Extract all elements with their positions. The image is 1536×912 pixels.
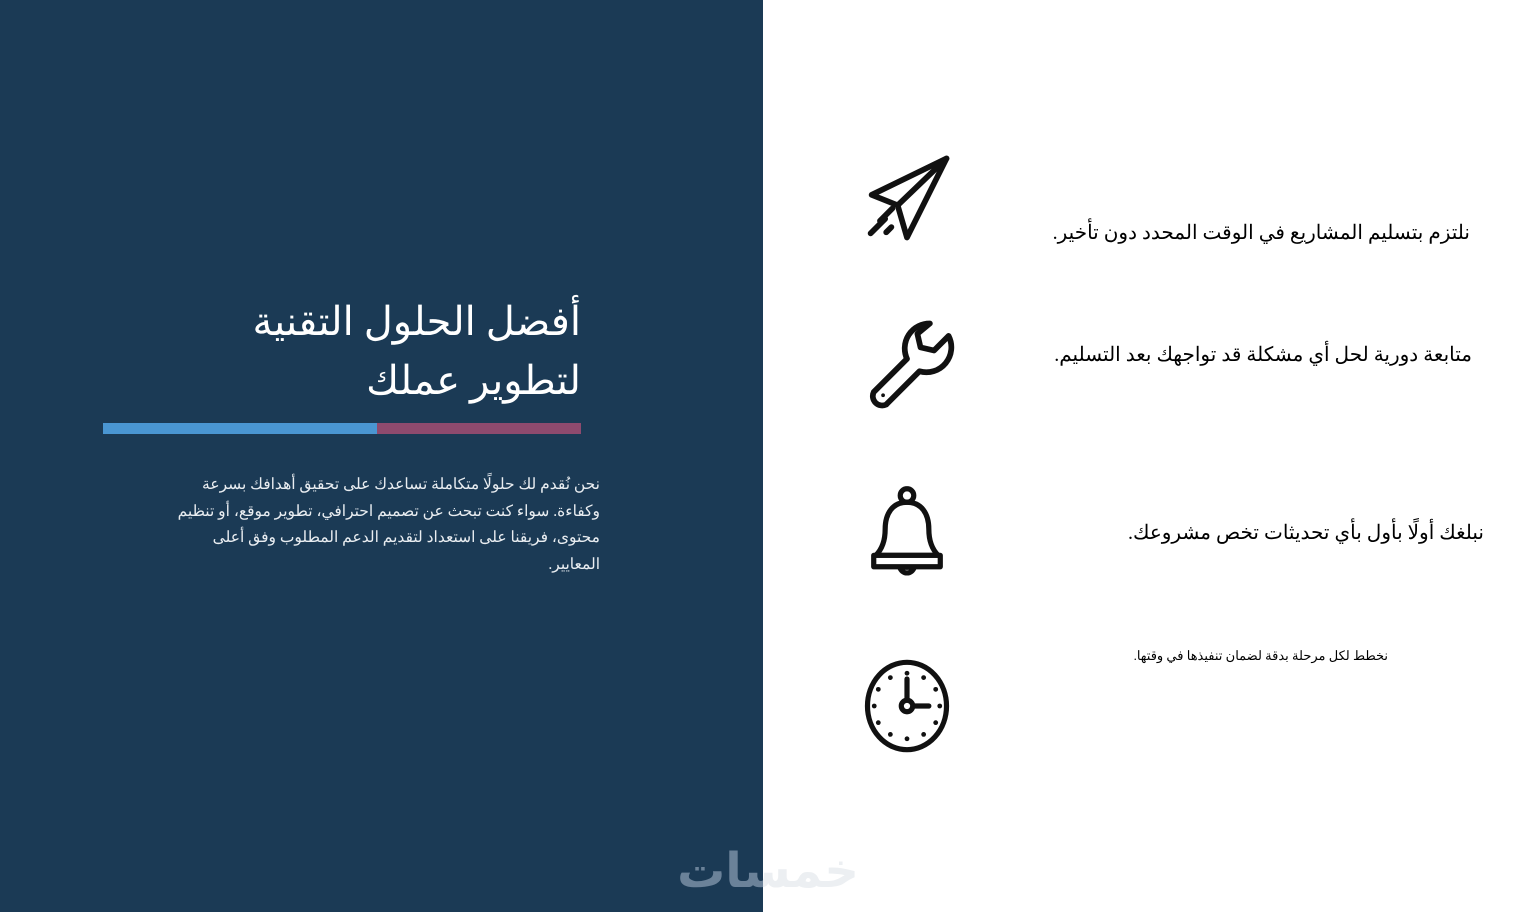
page-title: أفضل الحلول التقنية لتطوير عملك	[181, 292, 581, 410]
intro-paragraph: نحن نُقدم لك حلولًا متكاملة تساعدك على ت…	[163, 472, 600, 579]
feature-text: نبلغك أولًا بأول بأي تحديثات تخص مشروعك.	[1054, 518, 1484, 548]
feature-text: نلتزم بتسليم المشاريع في الوقت المحدد دو…	[1050, 218, 1470, 248]
accent-bar-group	[103, 423, 581, 434]
clock-icon	[855, 654, 959, 758]
left-navy-panel: أفضل الحلول التقنية لتطوير عملك نحن نُقد…	[0, 0, 763, 912]
accent-bar-plum	[377, 423, 581, 434]
right-white-panel: نلتزم بتسليم المشاريع في الوقت المحدد دو…	[763, 0, 1536, 912]
feature-text: متابعة دورية لحل أي مشكلة قد تواجهك بعد …	[1022, 340, 1472, 370]
feature-text: نخطط لكل مرحلة بدقة لضمان تنفيذها في وقت…	[1048, 646, 1388, 666]
wrench-icon	[855, 312, 959, 416]
paper-plane-icon	[855, 146, 959, 250]
left-panel-content: أفضل الحلول التقنية لتطوير عملك نحن نُقد…	[0, 0, 763, 912]
slide-canvas: أفضل الحلول التقنية لتطوير عملك نحن نُقد…	[0, 0, 1536, 912]
bell-icon	[855, 482, 959, 586]
accent-bar-blue	[103, 423, 377, 434]
